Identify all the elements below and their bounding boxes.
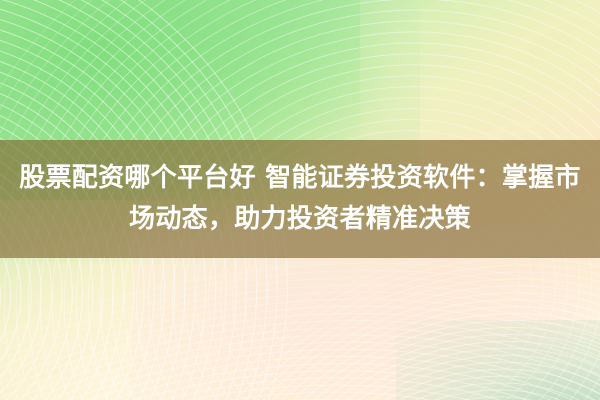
title-overlay-band: 股票配资哪个平台好 智能证券投资软件：掌握市场动态，助力投资者精准决策 xyxy=(0,140,600,258)
page-title: 股票配资哪个平台好 智能证券投资软件：掌握市场动态，助力投资者精准决策 xyxy=(0,158,600,240)
background-glow-green-bottom-right xyxy=(396,320,600,400)
banner-image: 股票配资哪个平台好 智能证券投资软件：掌握市场动态，助力投资者精准决策 xyxy=(0,0,600,400)
